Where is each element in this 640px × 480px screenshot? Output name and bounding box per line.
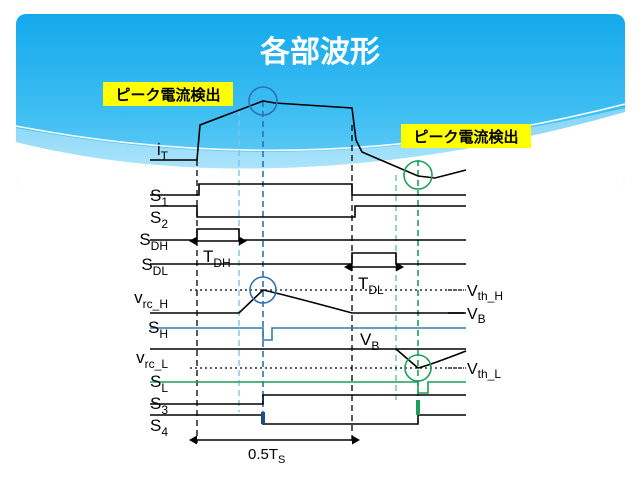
label-half-Ts: 0.5TS xyxy=(248,446,285,466)
callout-low-label: ピーク電流検出 xyxy=(413,128,518,146)
slide-canvas: 各部波形 ピーク電流検出 ピーク電流検出 xyxy=(0,0,640,480)
label-SL: SL xyxy=(150,372,168,395)
callout-peak-detect-low: ピーク電流検出 xyxy=(401,124,531,148)
label-SDL: SDL xyxy=(141,255,168,278)
label-SDH: SDH xyxy=(139,230,168,253)
label-S4: S4 xyxy=(150,416,168,439)
label-vrcH: vrc_H xyxy=(134,288,168,311)
label-S3: S3 xyxy=(150,394,168,417)
slide-root: 各部波形 ピーク電流検出 ピーク電流検出 xyxy=(0,0,640,480)
page-title: 各部波形 xyxy=(259,35,380,69)
label-Vth-H: Vth_H xyxy=(467,283,503,303)
label-SH: SH xyxy=(148,318,168,341)
label-S2: S2 xyxy=(150,208,168,231)
label-vrcL: vrc_L xyxy=(136,348,168,371)
right-label-column: Vth_H VB Vth_L xyxy=(448,283,503,381)
callout-peak-detect-high: ピーク電流検出 xyxy=(103,82,233,106)
label-Vth-L: Vth_L xyxy=(467,361,501,381)
callout-high-label: ピーク電流検出 xyxy=(115,86,220,104)
label-TDH: TDH xyxy=(203,247,231,270)
label-TDL: TDL xyxy=(358,274,384,297)
label-VB-right: VB xyxy=(467,306,486,326)
inline-labels: TDH TDL VB 0.5TS xyxy=(203,247,384,466)
